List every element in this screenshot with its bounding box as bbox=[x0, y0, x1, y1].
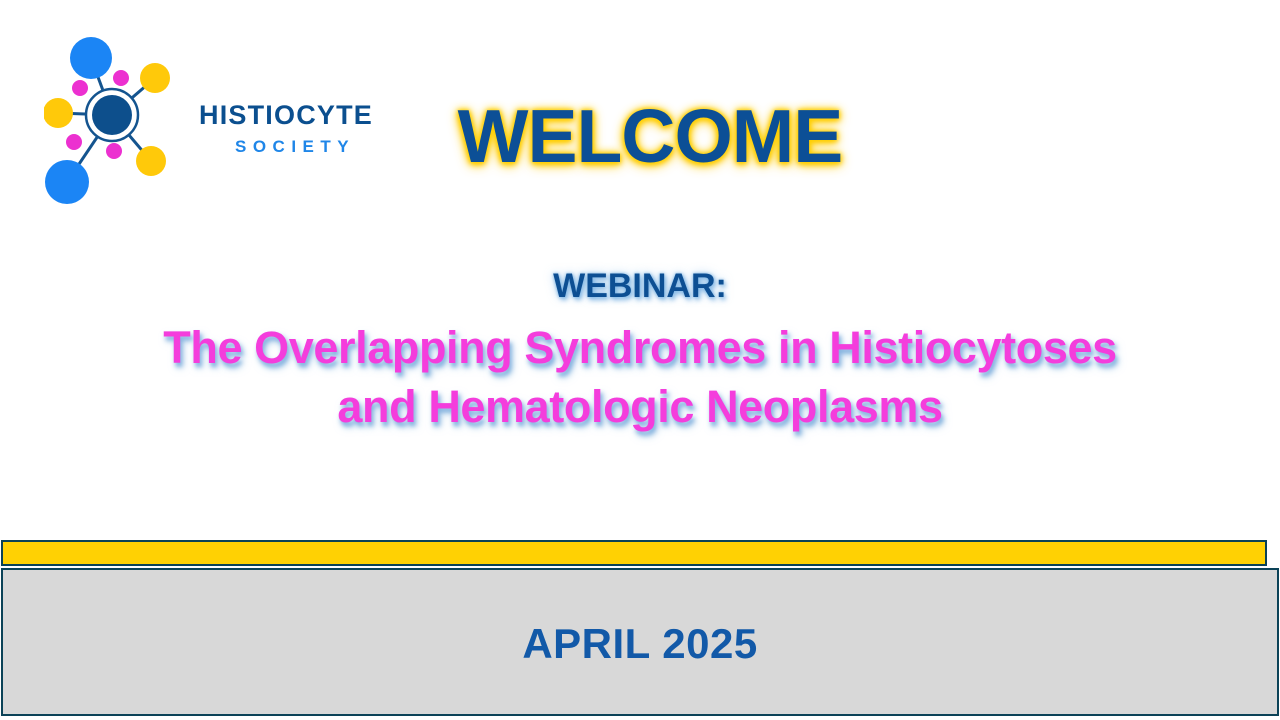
webinar-title: The Overlapping Syndromes in Histiocytos… bbox=[0, 318, 1280, 437]
presentation-slide: HISTIOCYTE SOCIETY WELCOME WEBINAR: The … bbox=[0, 0, 1280, 720]
logo-wordmark: HISTIOCYTE SOCIETY bbox=[199, 102, 399, 155]
node-magenta-lower-right-icon bbox=[106, 143, 122, 159]
webinar-title-line-1: The Overlapping Syndromes in Histiocytos… bbox=[0, 318, 1280, 377]
node-blue-bottom-left-icon bbox=[45, 160, 89, 204]
event-date: APRIL 2025 bbox=[522, 623, 757, 665]
node-yellow-top-right-icon bbox=[140, 63, 170, 93]
node-magenta-lower-left-icon bbox=[66, 134, 82, 150]
gold-accent-bar bbox=[1, 540, 1267, 566]
welcome-heading: WELCOME bbox=[390, 96, 910, 177]
webinar-title-line-2: and Hematologic Neoplasms bbox=[0, 377, 1280, 436]
node-core-icon bbox=[92, 95, 132, 135]
node-blue-top-left-icon bbox=[70, 37, 112, 79]
webinar-label: WEBINAR: bbox=[0, 268, 1280, 305]
date-panel: APRIL 2025 bbox=[1, 568, 1279, 716]
node-magenta-upper-right-icon bbox=[113, 70, 129, 86]
histiocyte-society-logo: HISTIOCYTE SOCIETY bbox=[44, 30, 374, 210]
node-yellow-bottom-right-icon bbox=[136, 146, 166, 176]
node-magenta-upper-left-icon bbox=[72, 80, 88, 96]
node-yellow-left-icon bbox=[44, 98, 73, 128]
logo-secondary-text: SOCIETY bbox=[235, 138, 399, 155]
logo-primary-text: HISTIOCYTE bbox=[199, 102, 399, 129]
logo-network-mark bbox=[44, 30, 194, 210]
